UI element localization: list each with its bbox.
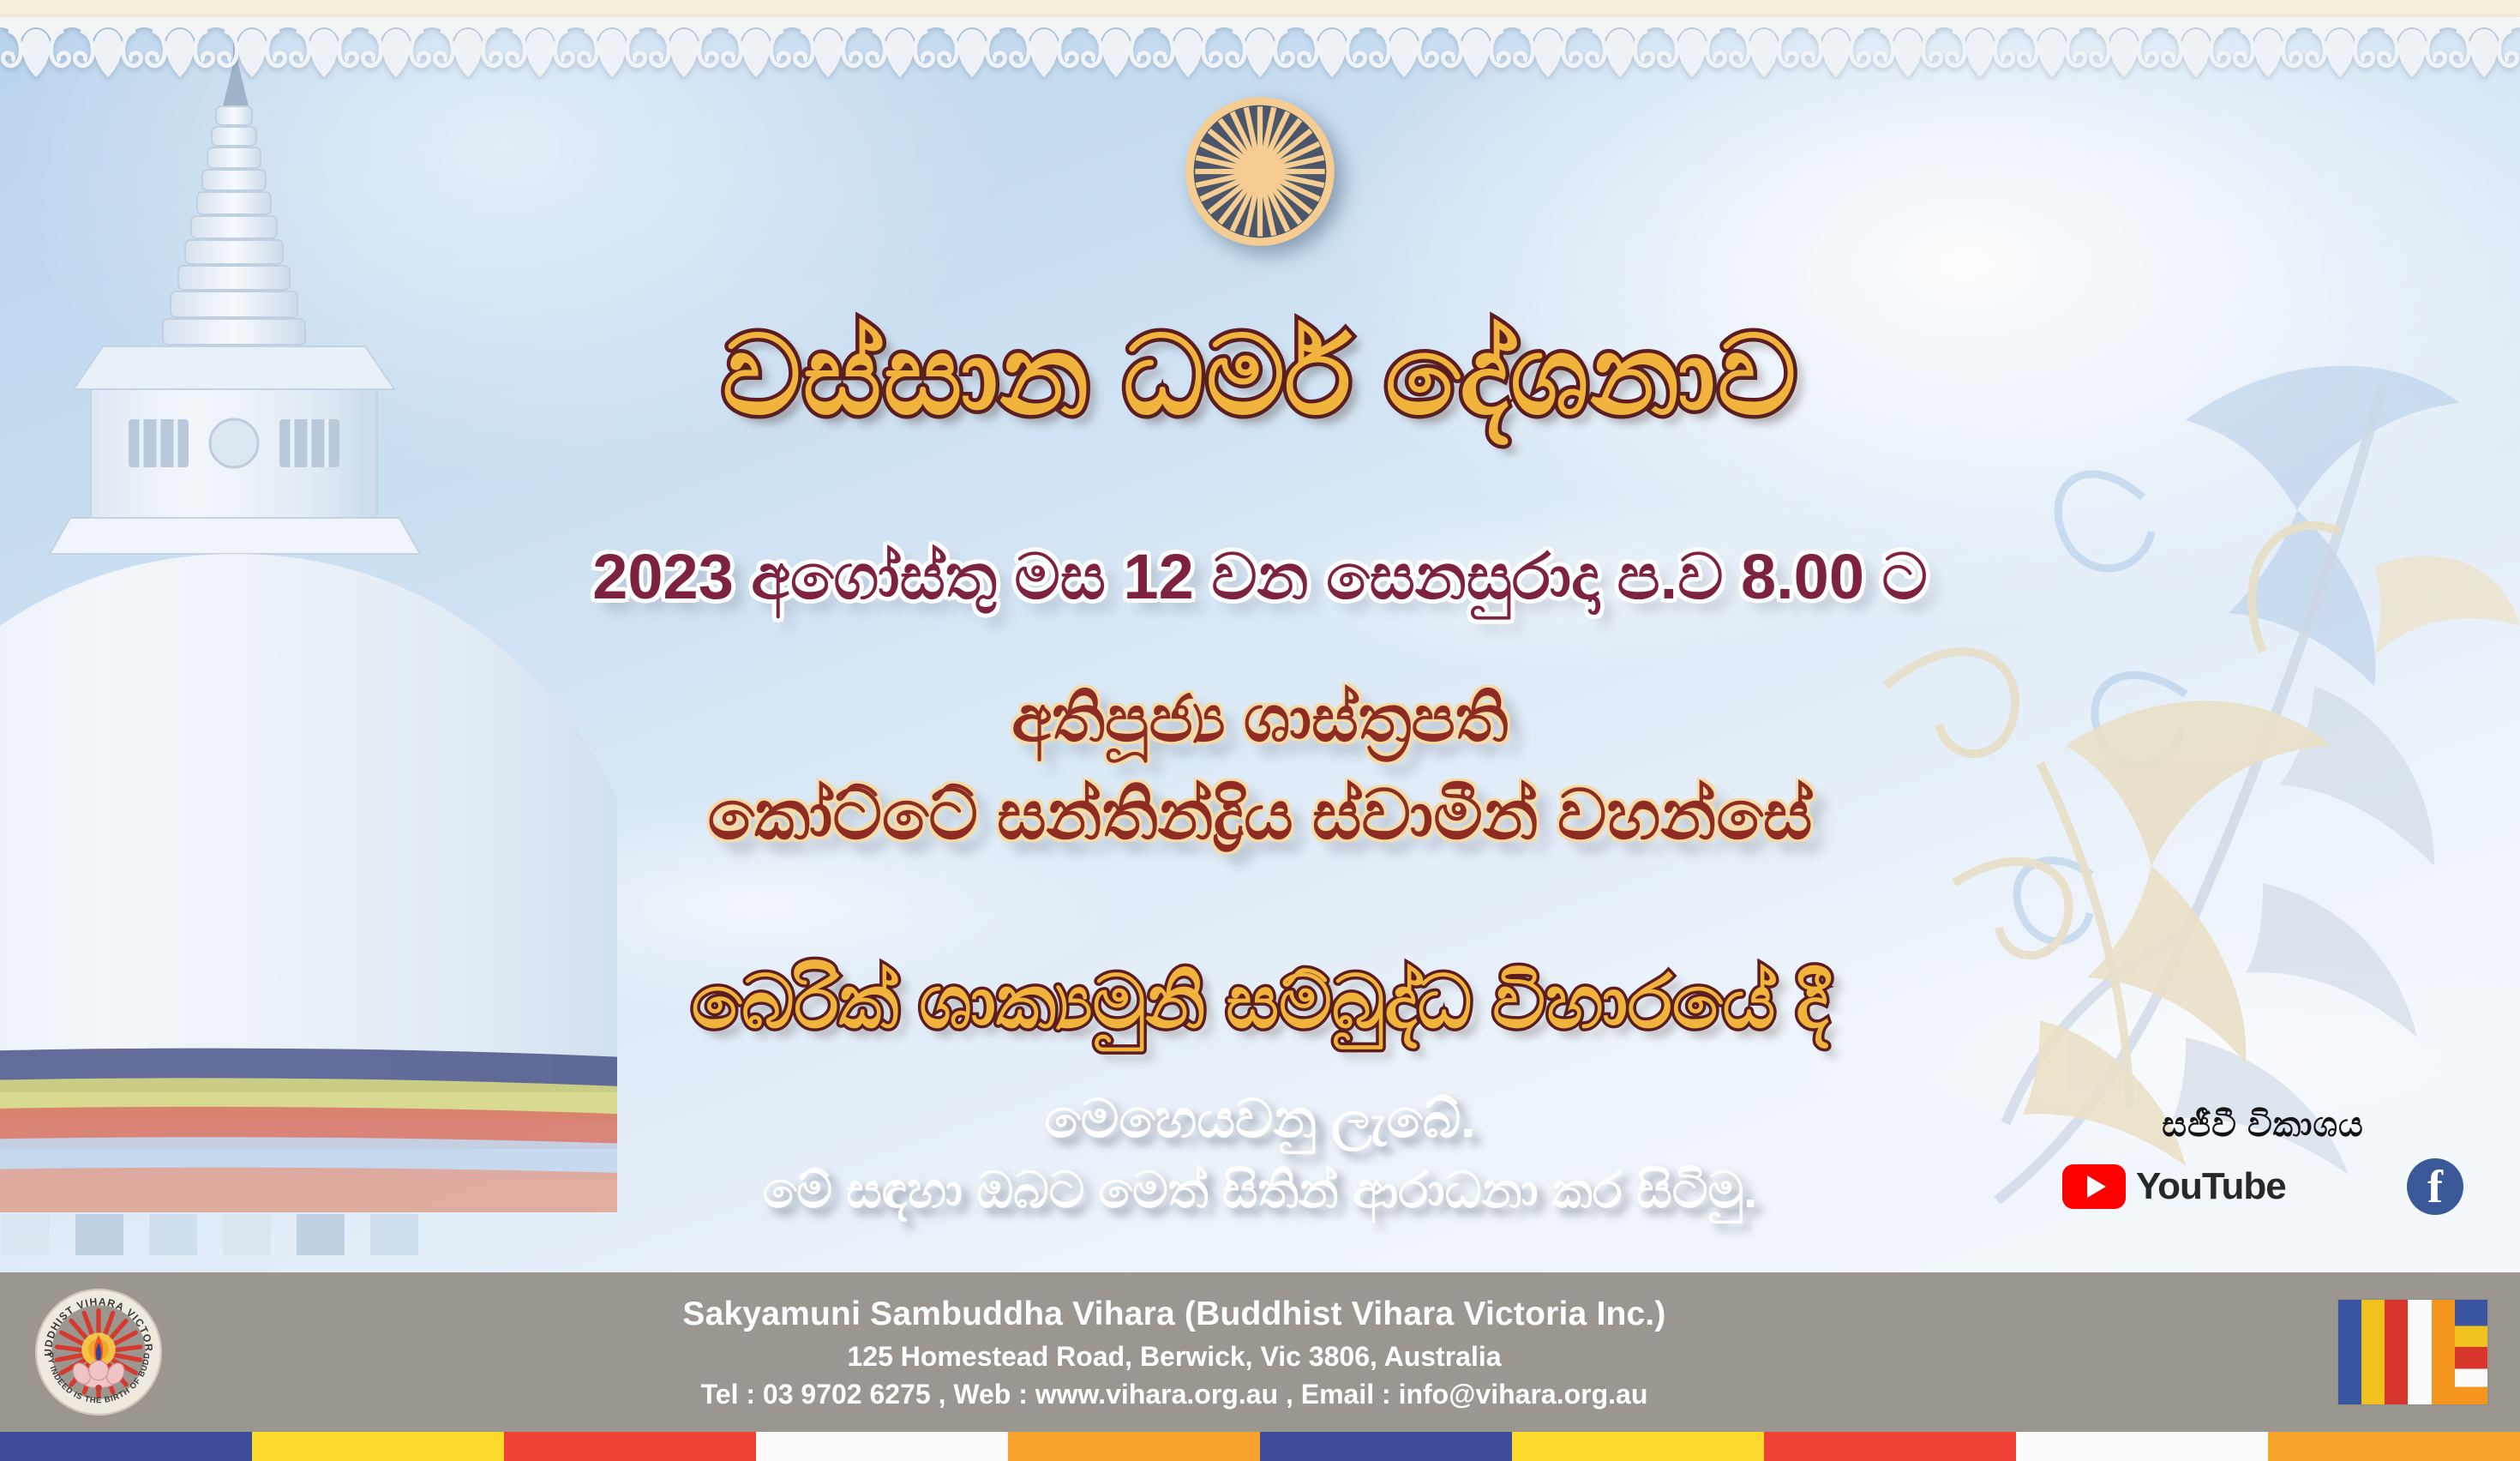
speaker-honorific: අතිපූජ්‍ය ශාස්ත්‍රපති: [0, 682, 2520, 758]
strip-blue: [1260, 1432, 1512, 1461]
strip-blue: [0, 1432, 252, 1461]
speaker-name: කෝට්ටේ සන්තින්ද්‍රිය ස්වාමීන් වහන්සේ: [0, 776, 2520, 856]
flag-stripes: [2338, 1300, 2488, 1404]
strip-orange: [1008, 1432, 1260, 1461]
organisation-address: 125 Homestead Road, Berwick, Vic 3806, A…: [197, 1338, 2151, 1375]
event-date-time: 2023 අගෝස්තු මස 12 වන සෙනසුරාදා ප.ව 8.00…: [0, 540, 2520, 615]
buddhist-flag-icon: [2306, 1300, 2520, 1404]
youtube-link[interactable]: YouTube: [2062, 1164, 2286, 1209]
flag-stripe-white: [2408, 1300, 2431, 1404]
footer-text-block: Sakyamuni Sambuddha Vihara (Buddhist Vih…: [197, 1291, 2306, 1413]
flag-stripe-combined: [2455, 1300, 2488, 1404]
organisation-name: Sakyamuni Sambuddha Vihara (Buddhist Vih…: [197, 1291, 2151, 1338]
organisation-contact: Tel : 03 9702 6275 , Web : www.vihara.or…: [197, 1375, 2151, 1413]
poster-content: වස්සාන ධර්ම දේශනාව 2023 අගෝස්තු මස 12 වන…: [0, 0, 2520, 1269]
footer-bar: BUDDHIST VIHARA VICTORIA HAPPY INDEED IS…: [0, 1272, 2520, 1432]
strip-yellow: [252, 1432, 504, 1461]
bottom-color-strip: [0, 1432, 2520, 1461]
flag-stripe-red: [2385, 1300, 2408, 1404]
flag-stripe-blue: [2338, 1300, 2361, 1404]
strip-white: [2016, 1432, 2268, 1461]
live-broadcast-block: සජීවී විකාශය YouTube f: [2057, 1106, 2469, 1215]
strip-yellow: [1512, 1432, 1764, 1461]
flag-stripe-yellow: [2361, 1300, 2385, 1404]
play-triangle-icon: [2087, 1175, 2106, 1198]
youtube-label: YouTube: [2136, 1165, 2286, 1208]
flag-stripe-orange: [2432, 1300, 2455, 1404]
facebook-icon[interactable]: f: [2407, 1158, 2463, 1215]
strip-red: [1764, 1432, 2016, 1461]
live-broadcast-label: සජීවී විකාශය: [2057, 1106, 2469, 1145]
live-icon-row: YouTube f: [2057, 1158, 2469, 1215]
youtube-icon[interactable]: [2062, 1164, 2126, 1209]
venue-name: බෙරික් ශාක්‍යමුනි සම්බුද්ධ විහාරයේ දී: [0, 960, 2520, 1047]
strip-orange: [2268, 1432, 2520, 1461]
page-title: වස්සාන ධර්ම දේශනාව: [0, 319, 2520, 434]
vihara-logo: BUDDHIST VIHARA VICTORIA HAPPY INDEED IS…: [0, 1287, 197, 1417]
poster-root: වස්සාන ධර්ම දේශනාව 2023 අගෝස්තු මස 12 වන…: [0, 0, 2520, 1461]
strip-red: [504, 1432, 756, 1461]
strip-white: [756, 1432, 1008, 1461]
